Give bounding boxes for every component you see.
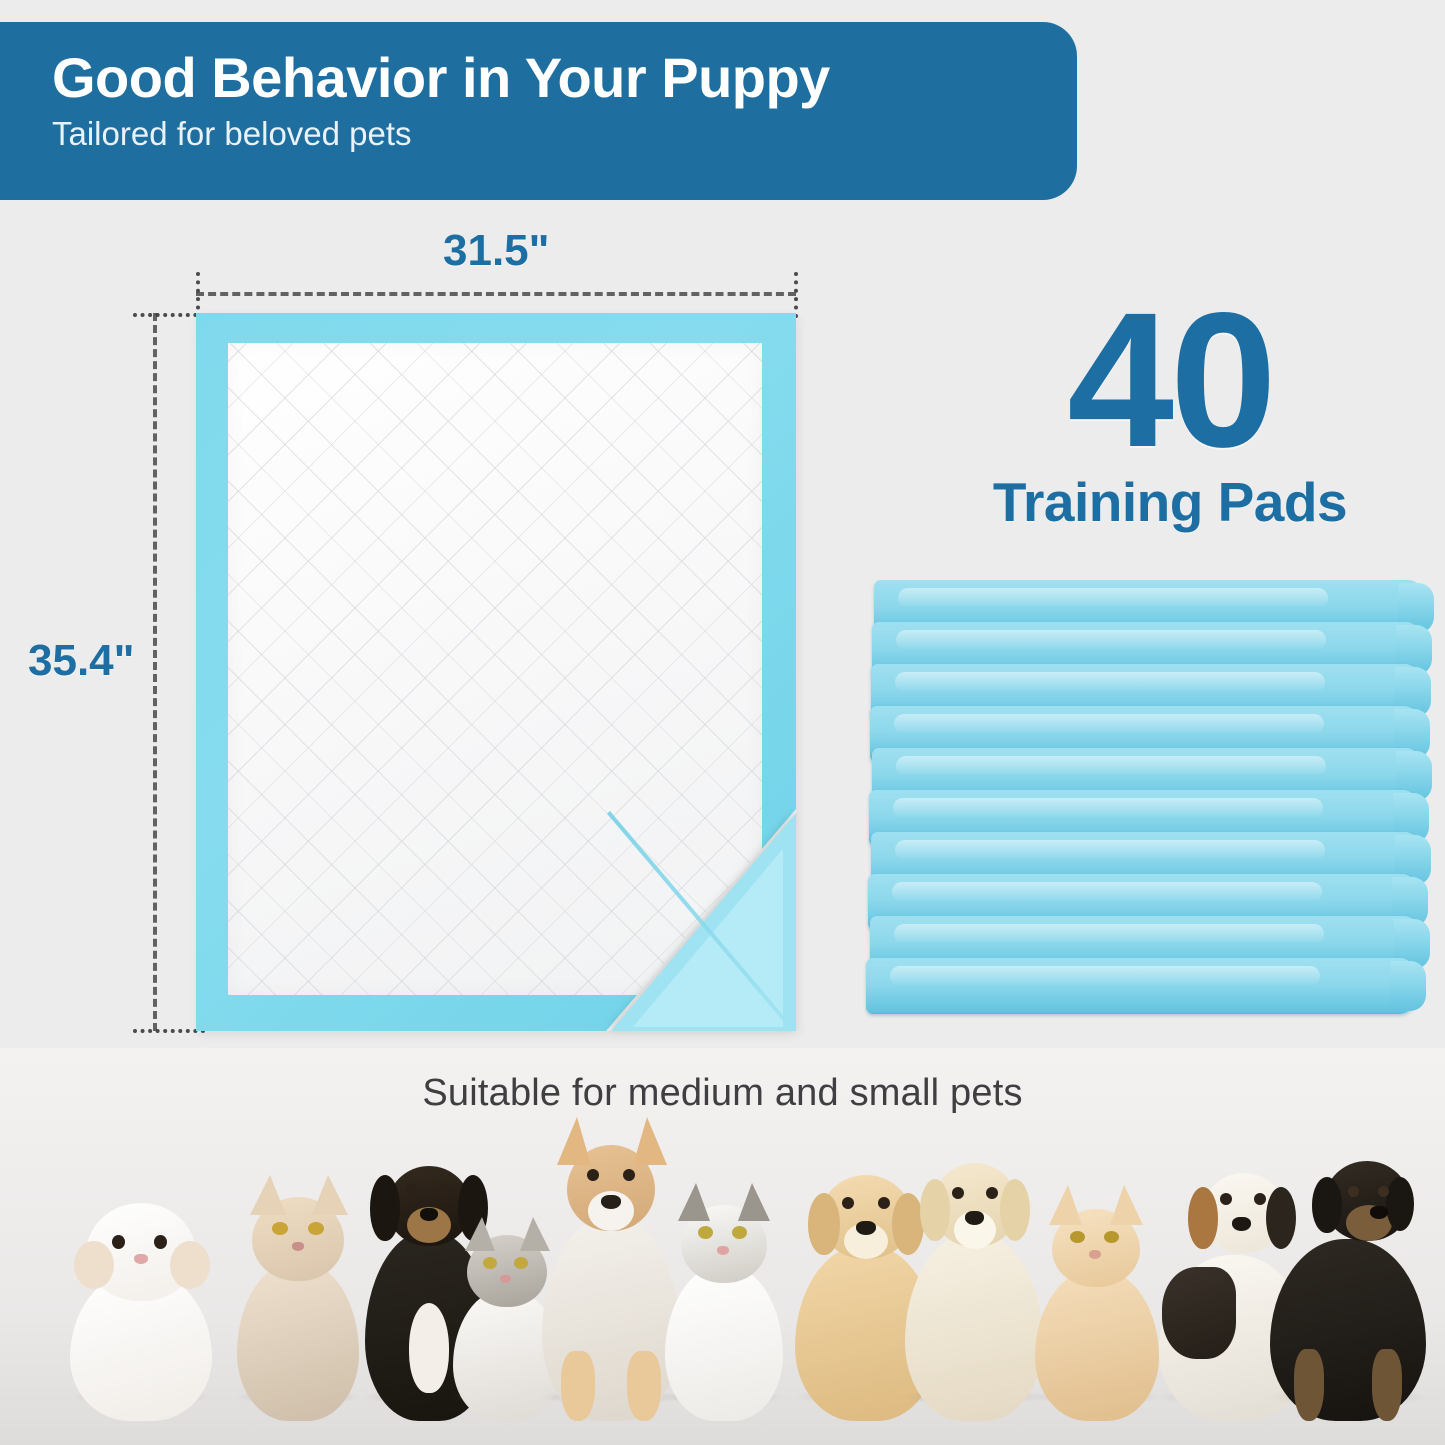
pet-ear-left: [1312, 1177, 1342, 1233]
pad-sheen: [890, 966, 1320, 986]
pet-body: [237, 1261, 359, 1421]
width-dimension-tick-left: [196, 272, 200, 318]
pet-orange-cat: [1030, 1203, 1164, 1421]
pet-nose: [1232, 1217, 1251, 1231]
pet-back-marking: [1162, 1267, 1236, 1359]
pet-nose: [1089, 1250, 1101, 1259]
pet-chest-marking: [409, 1303, 449, 1393]
pet-ear-right: [633, 1117, 667, 1165]
pet-eye-left: [952, 1187, 964, 1199]
pet-nose: [856, 1221, 876, 1235]
stacked-pad: [866, 958, 1414, 1014]
pet-eye-left: [1070, 1231, 1085, 1243]
pet-ear-right: [1386, 1177, 1414, 1231]
pad-stack-image: [866, 580, 1428, 1030]
height-dimension-label: 35.4": [28, 636, 135, 686]
pets-scene: Suitable for medium and small pets: [0, 1048, 1445, 1445]
pet-eye-right: [1104, 1231, 1119, 1243]
pet-white-kitten: [66, 1216, 216, 1421]
pet-ear-left: [1049, 1185, 1082, 1225]
pet-eye-right: [732, 1226, 747, 1239]
pet-ear-left: [74, 1241, 114, 1289]
pet-nose: [292, 1242, 304, 1251]
header-banner: Good Behavior in Your Puppy Tailored for…: [0, 22, 1077, 200]
scene-caption: Suitable for medium and small pets: [0, 1072, 1445, 1115]
pet-ear-left: [678, 1183, 710, 1221]
pet-cream-tabby-cat: [232, 1193, 364, 1421]
pad-sheen: [896, 630, 1326, 650]
pet-ear-right: [170, 1241, 210, 1289]
pad-sheen: [893, 798, 1323, 818]
pet-yellow-labrador: [898, 1153, 1050, 1421]
pet-eye-left: [1220, 1193, 1232, 1205]
pad-sheen: [892, 882, 1322, 902]
page-title: Good Behavior in Your Puppy: [52, 48, 1077, 108]
pet-ear-left: [808, 1193, 840, 1255]
width-dimension-tick-right: [794, 272, 798, 318]
pad-count-number: 40: [955, 292, 1385, 469]
pet-eye-left: [272, 1222, 288, 1235]
pet-eye-left: [842, 1197, 854, 1209]
pet-ear-left: [1188, 1187, 1218, 1249]
pet-eye-right: [878, 1197, 890, 1209]
pet-nose: [965, 1211, 984, 1225]
pad-sheen: [895, 672, 1325, 692]
pet-eye-left: [406, 1184, 417, 1195]
pet-black-rottweiler: [1262, 1139, 1434, 1421]
pet-body: [1035, 1269, 1159, 1421]
pad-sheen: [894, 924, 1324, 944]
pet-leg-right: [627, 1351, 661, 1421]
pet-body: [905, 1233, 1043, 1421]
height-dimension-line: [153, 313, 157, 1031]
pet-eye-left: [698, 1226, 713, 1239]
pet-eye-right: [623, 1169, 635, 1181]
pet-body: [665, 1265, 783, 1421]
pad-sheen: [894, 714, 1324, 734]
pad-sheen: [895, 840, 1325, 860]
training-pad-product-image: [196, 313, 796, 1031]
pet-eye-left: [1348, 1186, 1359, 1197]
pet-eye-right: [514, 1257, 528, 1269]
pet-eye-left: [587, 1169, 599, 1181]
pet-eye-right: [440, 1184, 451, 1195]
pet-eye-right: [154, 1235, 167, 1249]
height-dimension-tick-top: [133, 313, 205, 317]
pet-ear-right: [312, 1175, 348, 1215]
infographic-canvas: Good Behavior in Your Puppy Tailored for…: [0, 0, 1445, 1445]
width-dimension-label: 31.5": [443, 226, 550, 276]
pet-nose: [500, 1275, 511, 1283]
pad-count-block: 40 Training Pads: [955, 292, 1385, 530]
pet-ear-left: [920, 1179, 950, 1241]
width-dimension-line: [196, 292, 796, 296]
pet-ear-left: [465, 1217, 495, 1251]
pet-eye-right: [1378, 1186, 1389, 1197]
pad-count-caption: Training Pads: [955, 475, 1385, 530]
pet-nose: [420, 1208, 438, 1221]
pet-leg-right: [1372, 1349, 1402, 1421]
pet-ear-right: [1000, 1179, 1030, 1241]
pet-ear-left: [557, 1117, 591, 1165]
pet-nose: [1370, 1206, 1388, 1219]
height-dimension-tick-bottom: [133, 1029, 205, 1033]
pet-leg-left: [561, 1351, 595, 1421]
pet-ear-right: [1110, 1185, 1143, 1225]
pet-eye-right: [308, 1222, 324, 1235]
pet-eye-left: [483, 1257, 497, 1269]
pet-ear-right: [738, 1183, 770, 1221]
pad-sheen: [896, 756, 1326, 776]
pet-eye-left: [112, 1235, 125, 1249]
pet-leg-left: [1294, 1349, 1324, 1421]
pad-folded-corner-highlight: [633, 849, 783, 1027]
pet-white-grey-cat: [660, 1199, 788, 1421]
pet-nose: [134, 1254, 148, 1264]
pad-sheen: [898, 588, 1328, 608]
pet-nose: [601, 1195, 621, 1209]
page-subtitle: Tailored for beloved pets: [52, 116, 1077, 152]
pet-ear-left: [250, 1175, 286, 1215]
pet-ear-left: [370, 1175, 400, 1241]
pet-eye-right: [986, 1187, 998, 1199]
pet-nose: [717, 1246, 729, 1255]
